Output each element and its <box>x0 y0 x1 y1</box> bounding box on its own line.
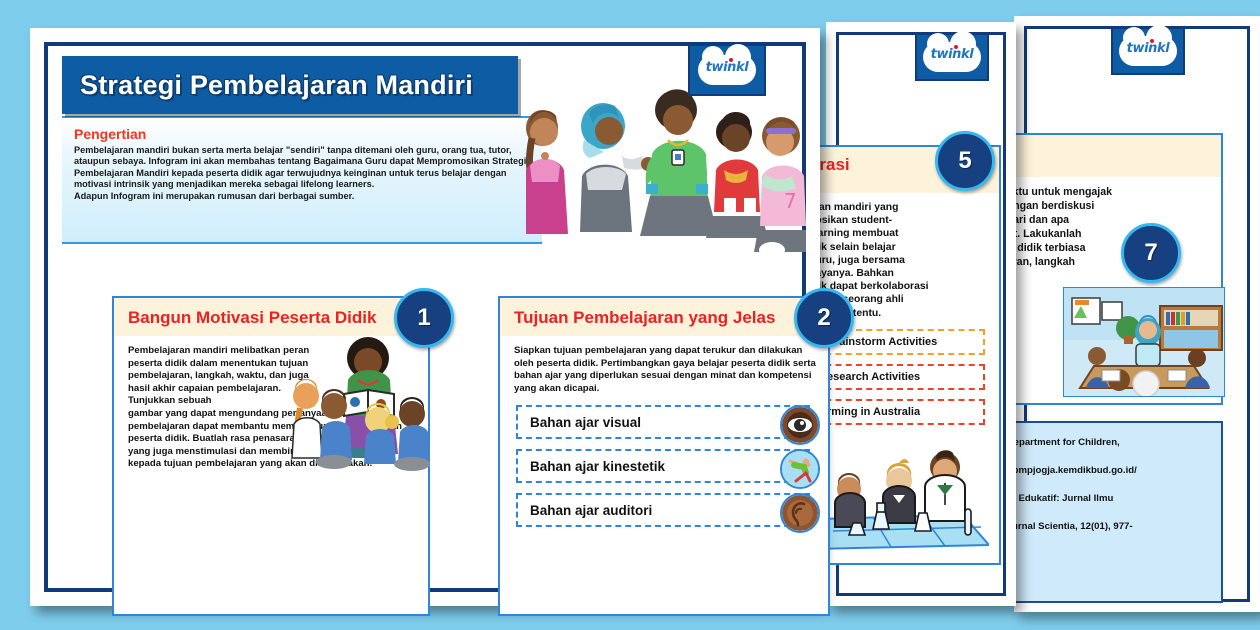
page-title-bar: Strategi Pembelajaran Mandiri <box>62 56 518 114</box>
intro-body-secondary: Adapun Infogram ini merupakan rumusan da… <box>74 191 532 202</box>
twinkl-wordmark: twinkl <box>1119 41 1177 56</box>
students-science-experiment-illustration <box>813 437 989 557</box>
teacher-reading-to-children-illustration <box>286 332 432 472</box>
reference-line: Dasar. Edukatif: Jurnal Ilmu <box>987 493 1213 505</box>
teacher-with-students-at-table-illustration <box>1063 287 1225 397</box>
intro-body: Pembelajaran mandiri bukan serta merta b… <box>74 145 532 191</box>
card-bangun-motivasi: 1 Bangun Motivasi Peserta Didik <box>112 296 430 616</box>
learning-style-label: Bahan ajar kinestetik <box>518 459 665 474</box>
infographic-preview-stage: twinkl n waktu untuk mengajak si dengan … <box>0 0 1260 630</box>
reference-line: NG. Jurnal Scientia, 12(01), 977- <box>987 521 1213 533</box>
learning-style-kinesthetic[interactable]: Bahan ajar kinestetik <box>516 449 810 483</box>
activity-label: rming in Australia <box>817 406 920 418</box>
page-7-line: n waktu untuk mengajak <box>989 185 1211 199</box>
twinkl-wordmark: twinkl <box>923 47 981 62</box>
activity-chip-farming[interactable]: rming in Australia <box>815 399 985 425</box>
card-2-text: Siapkan tujuan pembelajaran yang dapat t… <box>514 345 816 395</box>
twinkl-logo-dot <box>1150 39 1154 43</box>
page-5-inner-border: twinkl orasi aran mandiri yang nosikan s… <box>836 32 1006 596</box>
twinkl-logo-tab: twinkl <box>915 35 989 81</box>
card-1-title: Bangun Motivasi Peserta Didik <box>128 307 416 328</box>
twinkl-logo-tab: twinkl <box>1111 29 1185 75</box>
stretching-person-icon <box>780 449 820 489</box>
eye-icon <box>780 405 820 445</box>
intro-panel: Pengertian Pembelajaran mandiri bukan se… <box>62 116 542 244</box>
page-5-line: idik selain belajar <box>809 241 991 254</box>
twinkl-cloud-logo: twinkl <box>698 55 756 85</box>
card-1-number-badge: 1 <box>394 288 454 348</box>
learning-style-label: Bahan ajar visual <box>518 415 641 430</box>
twinkl-logo-tab: twinkl <box>688 46 766 96</box>
twinkl-logo-dot <box>954 45 958 49</box>
page-5-line: learning membuat <box>809 227 991 240</box>
card-2-title: Tujuan Pembelajaran yang Jelas <box>514 307 816 328</box>
page-7-line: pelajari dan apa <box>989 213 1211 227</box>
twinkl-logo-dot <box>729 58 733 62</box>
page-7-number-badge: 7 <box>1121 223 1181 283</box>
page-1-inner-border: Strategi Pembelajaran Mandiri twinkl Pen… <box>44 42 806 592</box>
page-7-inner-border: twinkl n waktu untuk mengajak si dengan … <box>1024 26 1250 602</box>
page-5-line: bayanya. Bahkan <box>809 267 991 280</box>
activity-chip-research[interactable]: esearch Activities <box>815 364 985 390</box>
card-2-number-badge: 2 <box>794 288 854 348</box>
page-5-line: aran mandiri yang <box>809 201 991 214</box>
learning-style-visual[interactable]: Bahan ajar visual <box>516 405 810 439</box>
page-1-sheet[interactable]: Strategi Pembelajaran Mandiri twinkl Pen… <box>30 28 820 606</box>
teacher-and-students-sitting-circle-illustration: 7 <box>496 84 806 264</box>
reference-line: ps://bpmpjogja.kemdikbud.go.id/ <box>987 465 1213 477</box>
svg-text:7: 7 <box>784 189 797 213</box>
page-5-line: guru, juga bersama <box>809 254 991 267</box>
ear-icon <box>780 493 820 533</box>
page-5-number-badge: 5 <box>935 131 995 191</box>
page-5-sheet[interactable]: twinkl orasi aran mandiri yang nosikan s… <box>826 22 1016 606</box>
twinkl-cloud-logo: twinkl <box>923 42 981 72</box>
page-7-line: si dengan berdiskusi <box>989 199 1211 213</box>
page-7-sheet[interactable]: twinkl n waktu untuk mengajak si dengan … <box>1014 16 1260 612</box>
page-5-line: nosikan student- <box>809 214 991 227</box>
card-1-body: Pembelajaran mandiri melibatkan peran pe… <box>114 336 428 477</box>
card-tujuan-pembelajaran: 2 Tujuan Pembelajaran yang Jelas Siapkan… <box>498 296 830 616</box>
card-1-header: Bangun Motivasi Peserta Didik <box>114 298 428 336</box>
reference-line: nts. Department for Children, <box>987 437 1213 449</box>
card-2-header: Tujuan Pembelajaran yang Jelas <box>500 298 828 336</box>
twinkl-cloud-logo: twinkl <box>1119 36 1177 66</box>
learning-style-label: Bahan ajar auditori <box>518 503 652 518</box>
twinkl-wordmark: twinkl <box>698 60 756 75</box>
card-2-body: Siapkan tujuan pembelajaran yang dapat t… <box>500 336 828 533</box>
page-title: Strategi Pembelajaran Mandiri <box>64 70 473 101</box>
activity-label: esearch Activities <box>817 371 920 383</box>
intro-heading: Pengertian <box>74 126 532 142</box>
learning-style-auditory[interactable]: Bahan ajar auditori <box>516 493 810 527</box>
